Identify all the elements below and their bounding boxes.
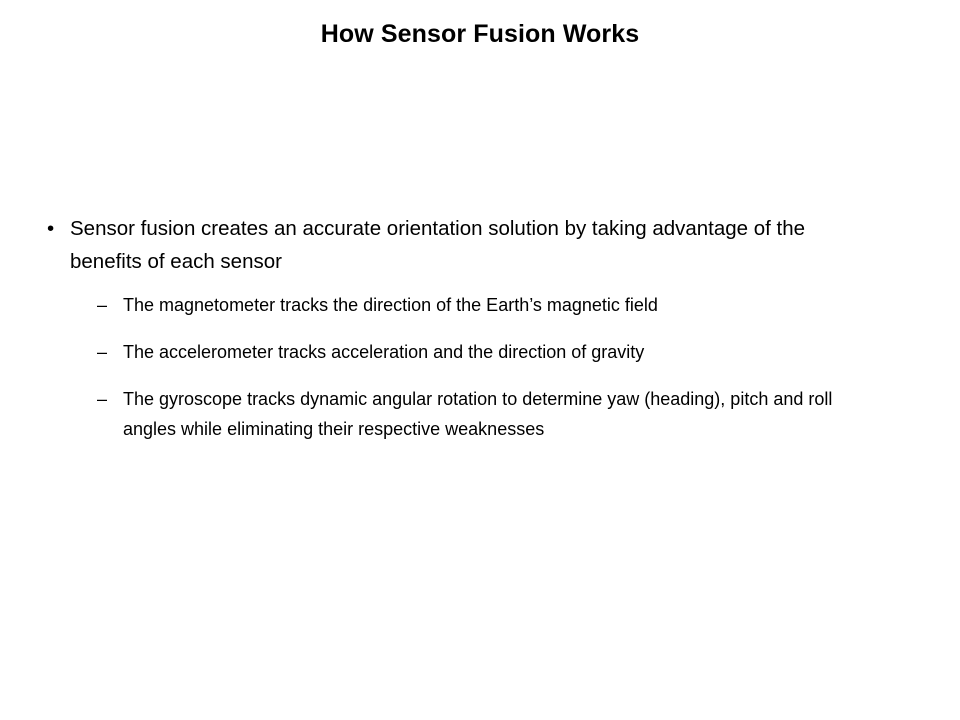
dash-marker-icon: –	[97, 290, 107, 320]
list-item: – The accelerometer tracks acceleration …	[70, 337, 875, 367]
bullet-marker-icon: •	[47, 212, 54, 245]
sub-bullet-list: – The magnetometer tracks the direction …	[70, 290, 875, 444]
dash-marker-icon: –	[97, 384, 107, 414]
list-item-text: The gyroscope tracks dynamic angular rot…	[123, 384, 875, 444]
list-item: – The gyroscope tracks dynamic angular r…	[70, 384, 875, 444]
slide-body: • Sensor fusion creates an accurate orie…	[44, 212, 934, 450]
dash-marker-icon: –	[97, 337, 107, 367]
list-item-text: Sensor fusion creates an accurate orient…	[70, 212, 875, 278]
slide: How Sensor Fusion Works • Sensor fusion …	[0, 0, 960, 720]
bullet-list: • Sensor fusion creates an accurate orie…	[44, 212, 934, 444]
page-title: How Sensor Fusion Works	[0, 18, 960, 50]
list-item-text: The magnetometer tracks the direction of…	[123, 290, 875, 320]
list-item: – The magnetometer tracks the direction …	[70, 290, 875, 320]
list-item: • Sensor fusion creates an accurate orie…	[44, 212, 875, 444]
list-item-text: The accelerometer tracks acceleration an…	[123, 337, 875, 367]
